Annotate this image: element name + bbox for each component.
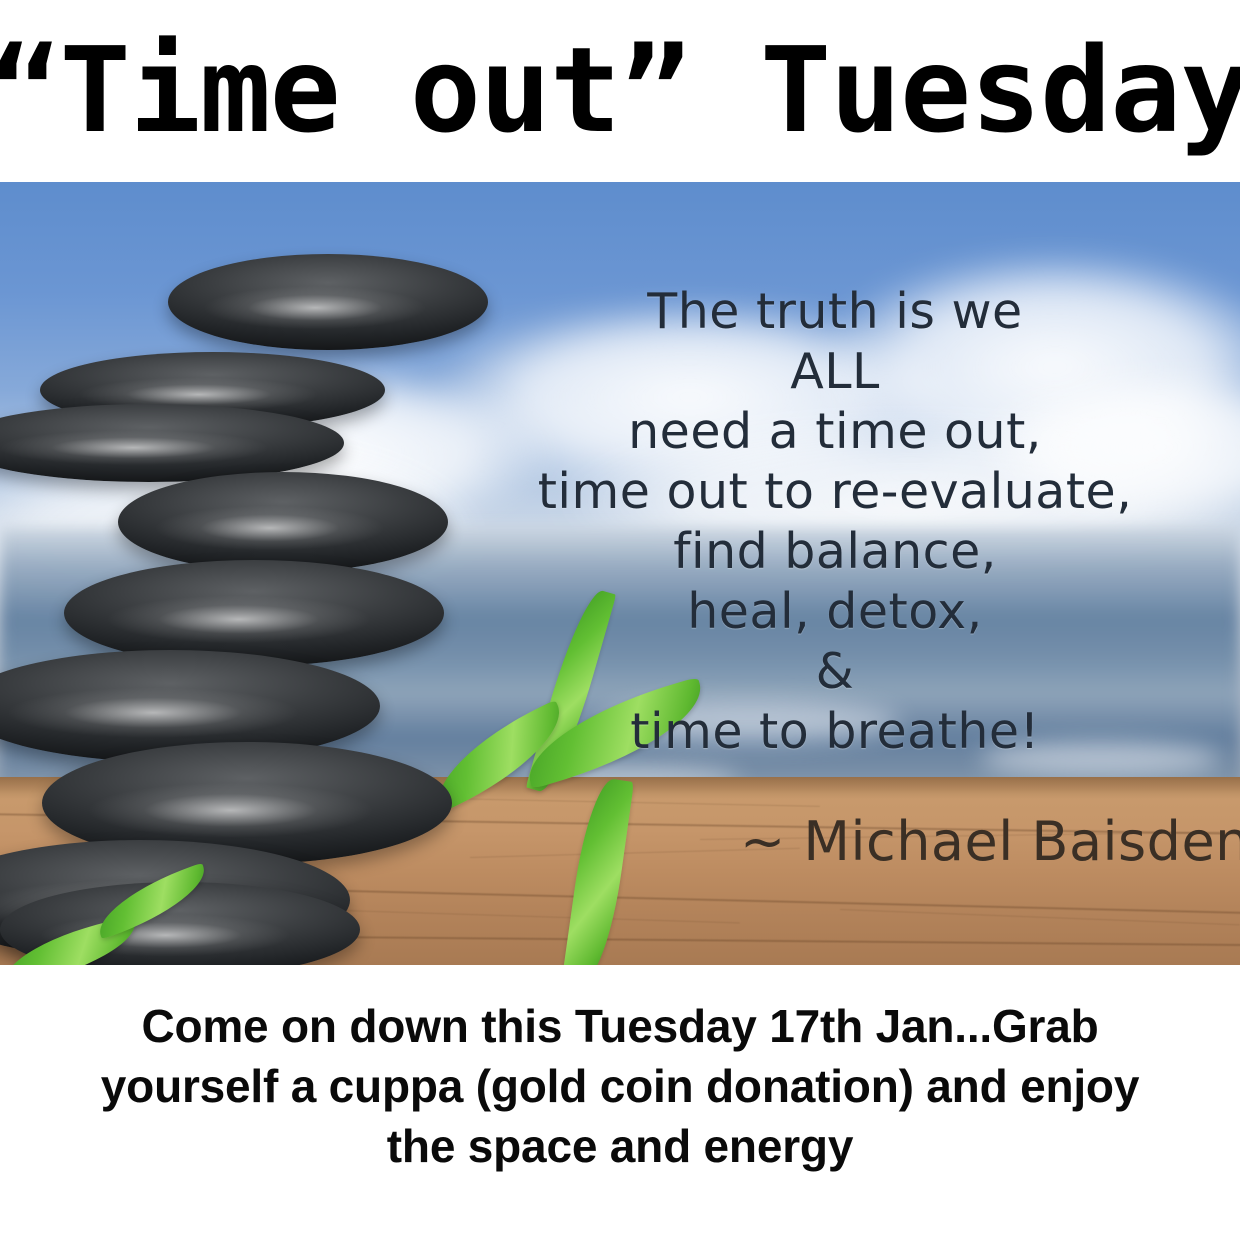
quote-line: need a time out, xyxy=(430,402,1240,462)
quote-line: & xyxy=(430,642,1240,702)
quote-text-block: The truth is we ALL need a time out, tim… xyxy=(0,282,1240,762)
quote-attribution: ~ Michael Baisden xyxy=(740,812,1240,872)
quote-line: time to breathe! xyxy=(430,702,1240,762)
page-title: “Time out” Tuesday xyxy=(0,24,1240,156)
quote-line: heal, detox, xyxy=(430,582,1240,642)
caption-line: Come on down this Tuesday 17th Jan...Gra… xyxy=(0,996,1240,1056)
caption-line: the space and energy xyxy=(0,1116,1240,1176)
zen-stones-photo: The truth is we ALL need a time out, tim… xyxy=(0,182,1240,965)
title-banner: “Time out” Tuesday xyxy=(0,0,1240,182)
quote-line: The truth is we xyxy=(430,282,1240,342)
quote-line: find balance, xyxy=(430,522,1240,582)
quote-line: time out to re-evaluate, xyxy=(430,462,1240,522)
quote-line: ALL xyxy=(430,342,1240,402)
caption-line: yourself a cuppa (gold coin donation) an… xyxy=(0,1056,1240,1116)
event-caption: Come on down this Tuesday 17th Jan...Gra… xyxy=(0,996,1240,1176)
